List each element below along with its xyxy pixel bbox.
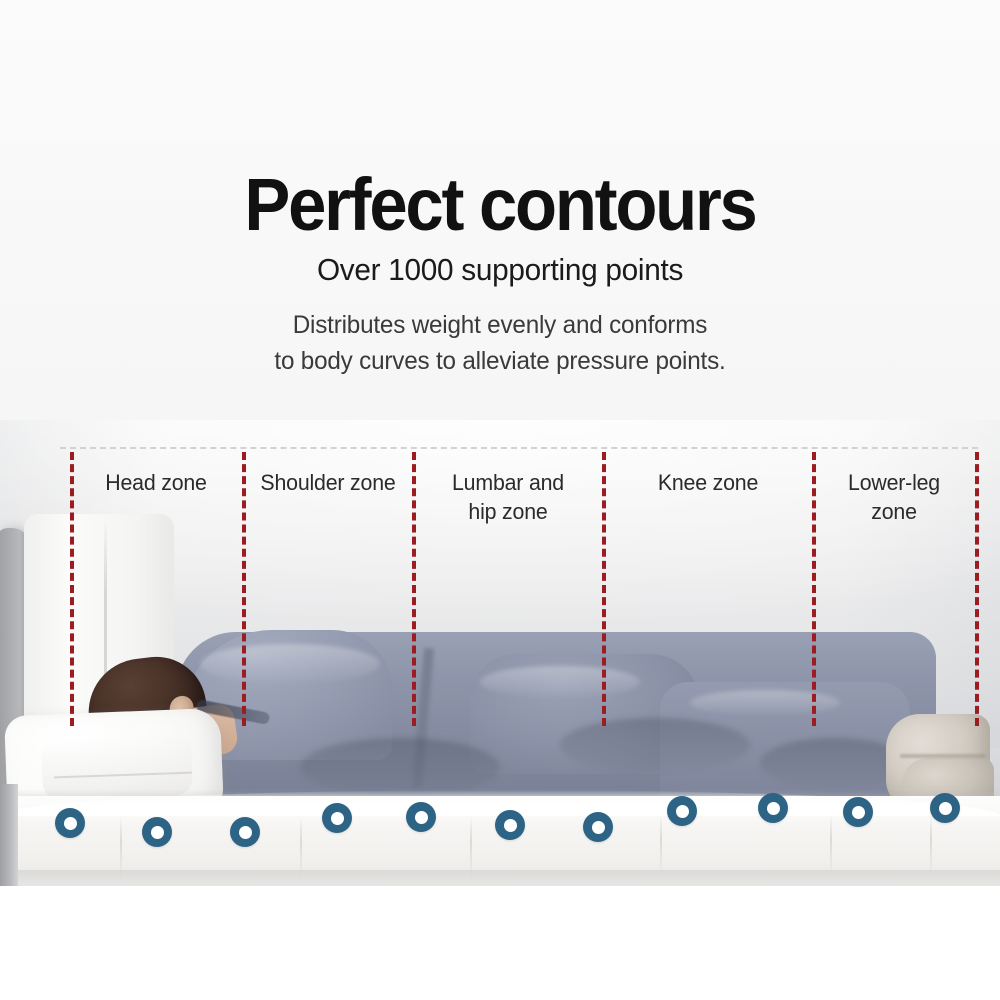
pillow-shading (41, 733, 193, 801)
support-point-center (852, 806, 865, 819)
page-title: Perfect contours (35, 168, 965, 242)
support-point-ring-icon (583, 812, 613, 842)
fabric-fold-highlight (480, 666, 640, 698)
support-point-ring-icon (667, 796, 697, 826)
mattress-quilt-line (830, 814, 832, 878)
support-point-ring-icon (55, 808, 85, 838)
support-point-center (151, 826, 164, 839)
sock-crease (900, 754, 986, 758)
fabric-fold-shadow (300, 738, 500, 796)
subtitle: Over 1000 supporting points (20, 252, 980, 288)
support-point-center (239, 826, 252, 839)
support-point-center (676, 805, 689, 818)
body-copy: Distributes weight evenly and conforms t… (15, 308, 985, 379)
product-feature-poster: Perfect contours Over 1000 supporting po… (0, 0, 1000, 1000)
mattress-base-shadow (0, 870, 1000, 886)
support-point-ring-icon (322, 803, 352, 833)
fabric-fold-highlight (200, 644, 380, 684)
support-point-ring-icon (843, 797, 873, 827)
mattress-quilt-line (660, 814, 662, 878)
support-point-ring-icon (930, 793, 960, 823)
bed-frame-left (0, 784, 18, 886)
support-point-ring-icon (230, 817, 260, 847)
footer-white-band (0, 886, 1000, 1000)
support-point-center (64, 817, 77, 830)
support-point-ring-icon (142, 817, 172, 847)
support-point-center (504, 819, 517, 832)
support-point-center (331, 812, 344, 825)
headline-block: Perfect contours Over 1000 supporting po… (0, 0, 1000, 420)
support-point-center (939, 802, 952, 815)
support-point-center (767, 802, 780, 815)
fabric-fold-highlight (690, 690, 840, 716)
support-point-center (415, 811, 428, 824)
fabric-fold-shadow (560, 718, 750, 772)
support-point-center (592, 821, 605, 834)
body-copy-line-2: to body curves to alleviate pressure poi… (15, 344, 985, 380)
support-point-ring-icon (406, 802, 436, 832)
body-copy-line-1: Distributes weight evenly and conforms (15, 308, 985, 344)
support-point-ring-icon (758, 793, 788, 823)
mattress-quilt-line (930, 814, 932, 878)
support-point-ring-icon (495, 810, 525, 840)
